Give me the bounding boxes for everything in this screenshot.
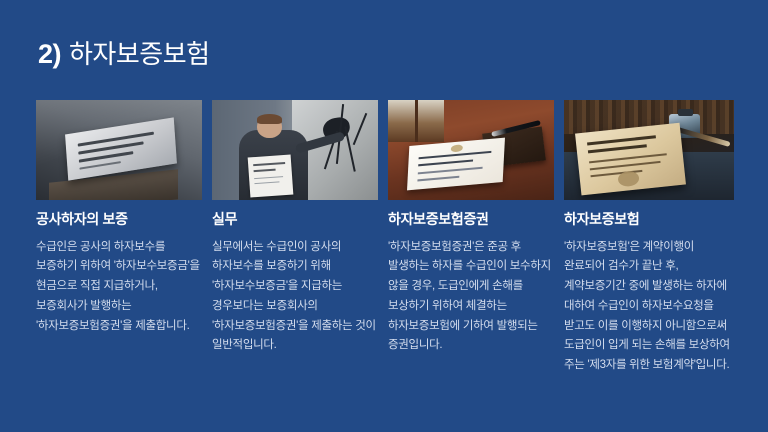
card-item: 공사하자의 보증 수급인은 공사의 하자보수를 보증하기 위하여 '하자보수보증…	[36, 100, 202, 336]
image-frame	[212, 100, 378, 200]
page-title-number: 2)	[38, 39, 61, 70]
text-line	[417, 167, 482, 175]
defect-warranty-certificate-plaque-image	[36, 100, 202, 200]
card-heading: 하자보증보험	[564, 211, 734, 229]
image-frame	[388, 100, 554, 200]
card-heading: 실무	[212, 211, 378, 229]
text-line	[79, 161, 120, 170]
text-line	[418, 160, 474, 167]
text-line	[587, 144, 646, 153]
card-item: 실무 실무에서는 수급인이 공사의 하자보수를 보증하기 위해 '하자보수보증금…	[212, 100, 378, 356]
text-line	[417, 176, 459, 182]
text-line	[253, 162, 285, 166]
seal-shape	[451, 144, 463, 152]
window-mullion-shape	[415, 100, 418, 142]
businessman-warranty-clause-cracked-wall-image	[212, 100, 378, 200]
card-body-text: 실무에서는 수급인이 공사의 하자보수를 보증하기 위해 '하자보수보증금'을 …	[212, 238, 378, 357]
text-line	[589, 161, 660, 170]
card-heading: 하자보증보험증권	[388, 211, 554, 229]
agreement-document-shape	[575, 123, 686, 196]
inkwell-cap-shape	[678, 109, 693, 116]
image-frame	[36, 100, 202, 200]
card-item: 하자보증보험 '하자보증보험'은 계약이행이 완료되어 검수가 끝난 후, 계약…	[564, 100, 734, 376]
slide-root: 2) 하자보증보험 공사하자의 보증 수급인은 공사의 하자보수를 보증하기 위…	[0, 0, 768, 432]
card-heading: 공사하자의 보증	[36, 211, 202, 229]
card-body-text: '하자보증보험증권'은 준공 후 발생하는 하자를 수급인이 보수하지 않을 경…	[388, 238, 554, 357]
page-title-text: 하자보증보험	[69, 34, 210, 71]
page-title: 2) 하자보증보험	[38, 34, 210, 71]
seal-shape	[617, 171, 640, 188]
text-line	[254, 176, 282, 179]
text-line	[418, 151, 491, 159]
defect-liability-insurance-agreement-inkwell-image	[564, 100, 734, 200]
liability-insurance-certificate-desk-image	[388, 100, 554, 200]
certificate-document-shape	[407, 138, 505, 191]
text-line	[254, 182, 279, 185]
warranty-clause-document-shape	[247, 155, 293, 198]
card-grid: 공사하자의 보증 수급인은 공사의 하자보수를 보증하기 위하여 '하자보수보증…	[36, 100, 732, 376]
text-line	[253, 169, 275, 173]
image-frame	[564, 100, 734, 200]
person-hair-shape	[257, 114, 282, 124]
card-body-text: 수급인은 공사의 하자보수를 보증하기 위하여 '하자보수보증금'을 현금으로 …	[36, 238, 202, 337]
card-item: 하자보증보험증권 '하자보증보험증권'은 준공 후 발생하는 하자를 수급인이 …	[388, 100, 554, 356]
card-body-text: '하자보증보험'은 계약이행이 완료되어 검수가 끝난 후, 계약보증기간 중에…	[564, 238, 734, 376]
